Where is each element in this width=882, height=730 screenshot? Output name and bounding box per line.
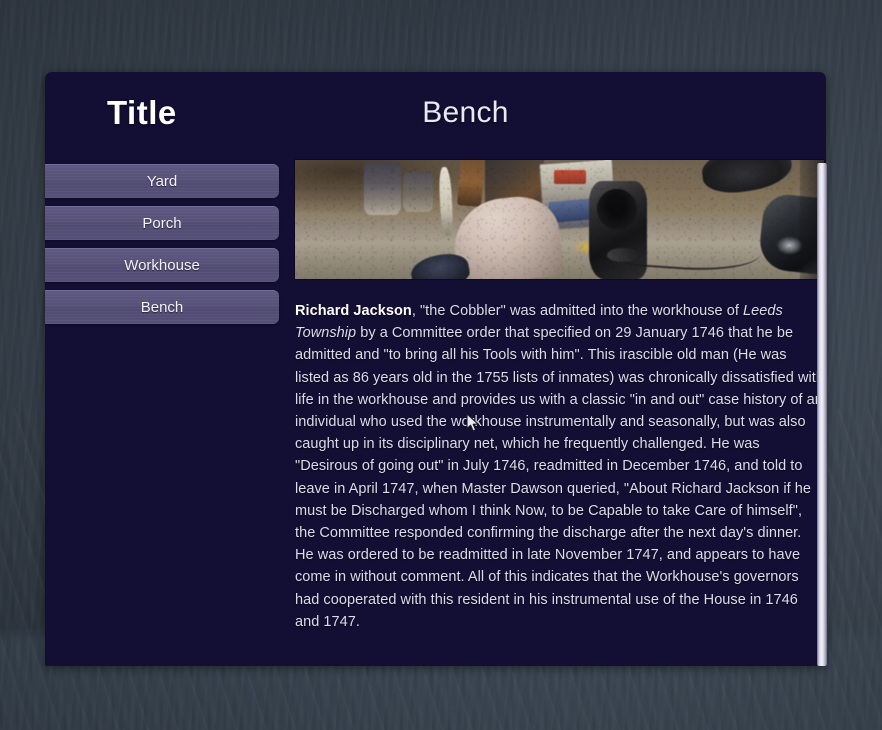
photo-shoe-bottom-left	[409, 250, 472, 279]
sidebar-item-label: Porch	[142, 215, 181, 232]
sidebar-item-porch[interactable]: Porch	[45, 206, 279, 240]
photo-tool-pot	[403, 172, 432, 212]
photo-metal-tray	[539, 160, 618, 230]
photo-shadow	[295, 160, 517, 215]
hero-photo-cobblers-bench	[295, 160, 824, 279]
photo-boot-opening	[593, 185, 639, 232]
photo-bench-clutter	[485, 160, 543, 212]
scrollbar-track[interactable]	[817, 163, 827, 666]
article-text-2: by a Committee order that specified on 2…	[295, 325, 824, 630]
article-body: Richard Jackson, "the Cobbler" was admit…	[295, 300, 824, 633]
sidebar-nav: Yard Porch Workhouse Bench	[45, 164, 279, 332]
sidebar-item-label: Yard	[147, 173, 178, 190]
sidebar-item-label: Bench	[141, 299, 184, 316]
content-column: Richard Jackson, "the Cobbler" was admit…	[295, 160, 824, 633]
sidebar-item-workhouse[interactable]: Workhouse	[45, 248, 279, 282]
sidebar-item-label: Workhouse	[124, 257, 200, 274]
photo-shoe-right	[757, 192, 824, 275]
photo-boot-highlight	[607, 248, 639, 262]
photo-grain	[295, 160, 824, 279]
photo-light-glint	[573, 239, 599, 256]
photo-shoe-top-right	[700, 160, 795, 197]
photo-soft-focus	[295, 160, 824, 279]
page-title: Bench	[45, 96, 826, 130]
photo-tool-tin	[364, 162, 401, 214]
scrollbar-thumb[interactable]	[817, 163, 827, 666]
sidebar-item-bench[interactable]: Bench	[45, 290, 279, 324]
photo-black-boot	[589, 181, 647, 279]
main-panel: Title Bench Yard Porch Workhouse Bench	[45, 72, 826, 666]
sidebar-item-yard[interactable]: Yard	[45, 164, 279, 198]
panel-header: Title Bench	[45, 72, 826, 156]
article-text-1: , "the Cobbler" was admitted into the wo…	[412, 303, 743, 319]
photo-red-item	[554, 170, 586, 184]
article-lead-name: Richard Jackson	[295, 303, 412, 319]
photo-blue-item	[548, 198, 597, 223]
photo-shoe-highlight	[776, 236, 802, 255]
photo-leather-strip	[457, 160, 485, 206]
photo-cable	[622, 229, 762, 274]
photo-folded-cloth	[450, 193, 564, 279]
photo-tool-handle	[439, 167, 455, 237]
